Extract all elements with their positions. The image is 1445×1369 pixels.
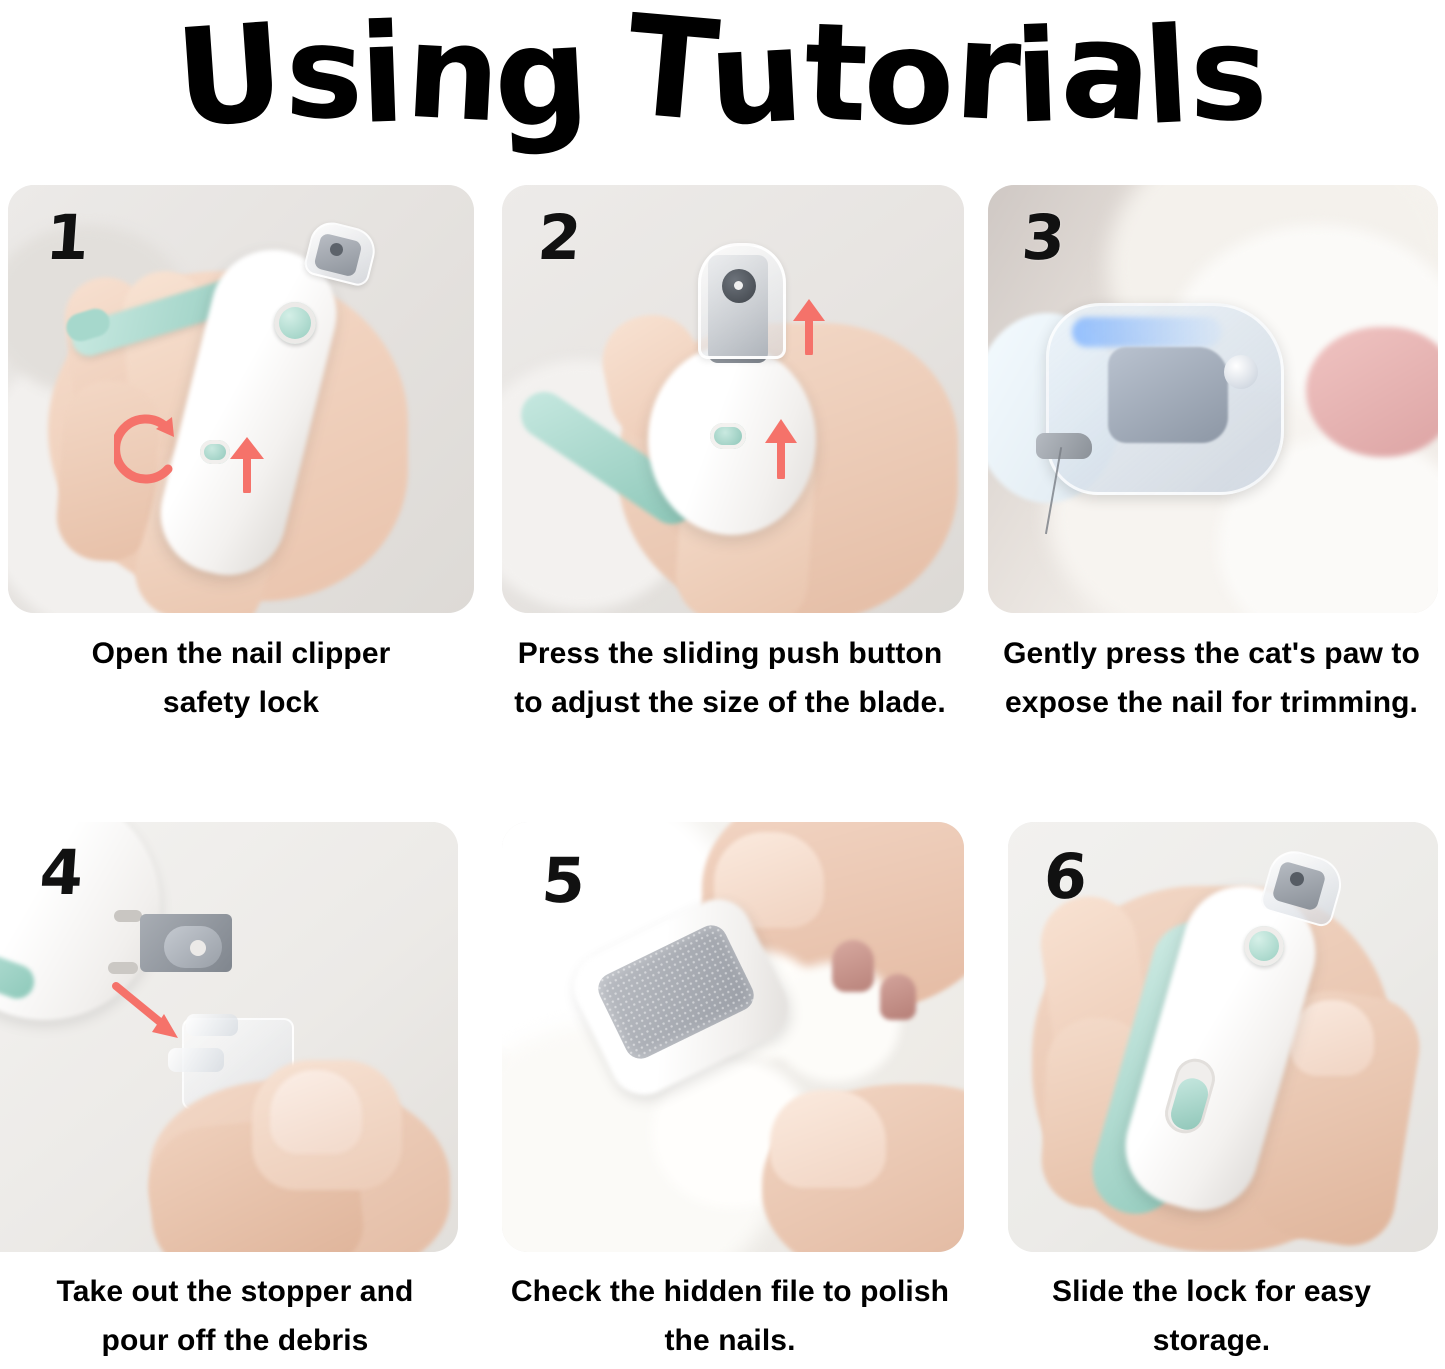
title-letter: s <box>1189 8 1268 140</box>
step-caption-6: Slide the lock for easy storage. <box>978 1268 1445 1365</box>
tutorial-steps-grid: 1 Open the nail clipper safety lock <box>0 150 1445 1369</box>
step-caption-4-line2: pour off the debris <box>0 1317 470 1366</box>
step-card-4: 4 <box>0 822 458 1252</box>
up-arrow-icon-bottom <box>762 417 800 479</box>
step-card-3: 3 <box>988 185 1438 613</box>
step-caption-2-line1: Press the sliding push button <box>490 630 970 679</box>
step-card-5: 5 <box>502 822 964 1252</box>
step-caption-3: Gently press the cat's paw to expose the… <box>978 630 1445 727</box>
step-caption-6-line1: Slide the lock for easy <box>978 1268 1445 1317</box>
step-card-1: 1 <box>8 185 474 613</box>
step-number-2: 2 <box>536 207 583 269</box>
title-letter: s <box>284 8 365 139</box>
title-letter: i <box>1012 12 1060 141</box>
title-letter: U <box>172 5 286 147</box>
step-caption-2-line2: to adjust the size of the blade. <box>490 679 970 728</box>
step-photo-1: 1 <box>8 185 474 613</box>
title-letter: l <box>1141 10 1191 144</box>
title-letter: r <box>951 2 1021 141</box>
step-card-2: 2 <box>502 185 964 613</box>
step-photo-3: 3 <box>988 185 1438 613</box>
step-number-5: 5 <box>540 850 587 912</box>
step-number-3: 3 <box>1020 207 1067 269</box>
step-card-6: 6 <box>1008 822 1438 1252</box>
title-letter: a <box>1057 1 1153 141</box>
page-title: UsingTutorials <box>179 9 1266 141</box>
step-caption-4: Take out the stopper and pour off the de… <box>0 1268 470 1365</box>
title-letter: t <box>802 5 868 142</box>
step-caption-5-line1: Check the hidden file to polish <box>490 1268 970 1317</box>
title-letter: u <box>706 11 805 145</box>
step-photo-5: 5 <box>502 822 964 1252</box>
title-letter: g <box>491 7 591 149</box>
step-caption-1: Open the nail clipper safety lock <box>8 630 474 727</box>
step-photo-4: 4 <box>0 822 458 1252</box>
title-letter: i <box>357 6 405 143</box>
step-caption-2: Press the sliding push button to adjust … <box>490 630 970 727</box>
step-number-1: 1 <box>44 207 91 269</box>
step-caption-1-line1: Open the nail clipper <box>8 630 474 679</box>
page-header: UsingTutorials <box>0 0 1445 150</box>
slide-up-arrow-icon <box>226 435 268 493</box>
step-number-4: 4 <box>38 842 85 904</box>
step-caption-5-line2: the nails. <box>490 1317 970 1366</box>
up-arrow-icon-top <box>790 297 828 355</box>
title-letter: n <box>403 6 502 141</box>
remove-stopper-arrow-icon <box>112 980 184 1042</box>
step-caption-3-line2: expose the nail for trimming. <box>978 679 1445 728</box>
step-caption-5: Check the hidden file to polish the nail… <box>490 1268 970 1365</box>
title-letter: o <box>862 11 953 145</box>
step-photo-2: 2 <box>502 185 964 613</box>
step-caption-3-line1: Gently press the cat's paw to <box>978 630 1445 679</box>
step-photo-6: 6 <box>1008 822 1438 1252</box>
step-caption-6-line2: storage. <box>978 1317 1445 1366</box>
step-caption-4-line1: Take out the stopper and <box>0 1268 470 1317</box>
step-caption-1-line2: safety lock <box>8 679 474 728</box>
rotate-arrow-icon <box>114 413 184 489</box>
step-number-6: 6 <box>1042 846 1089 908</box>
